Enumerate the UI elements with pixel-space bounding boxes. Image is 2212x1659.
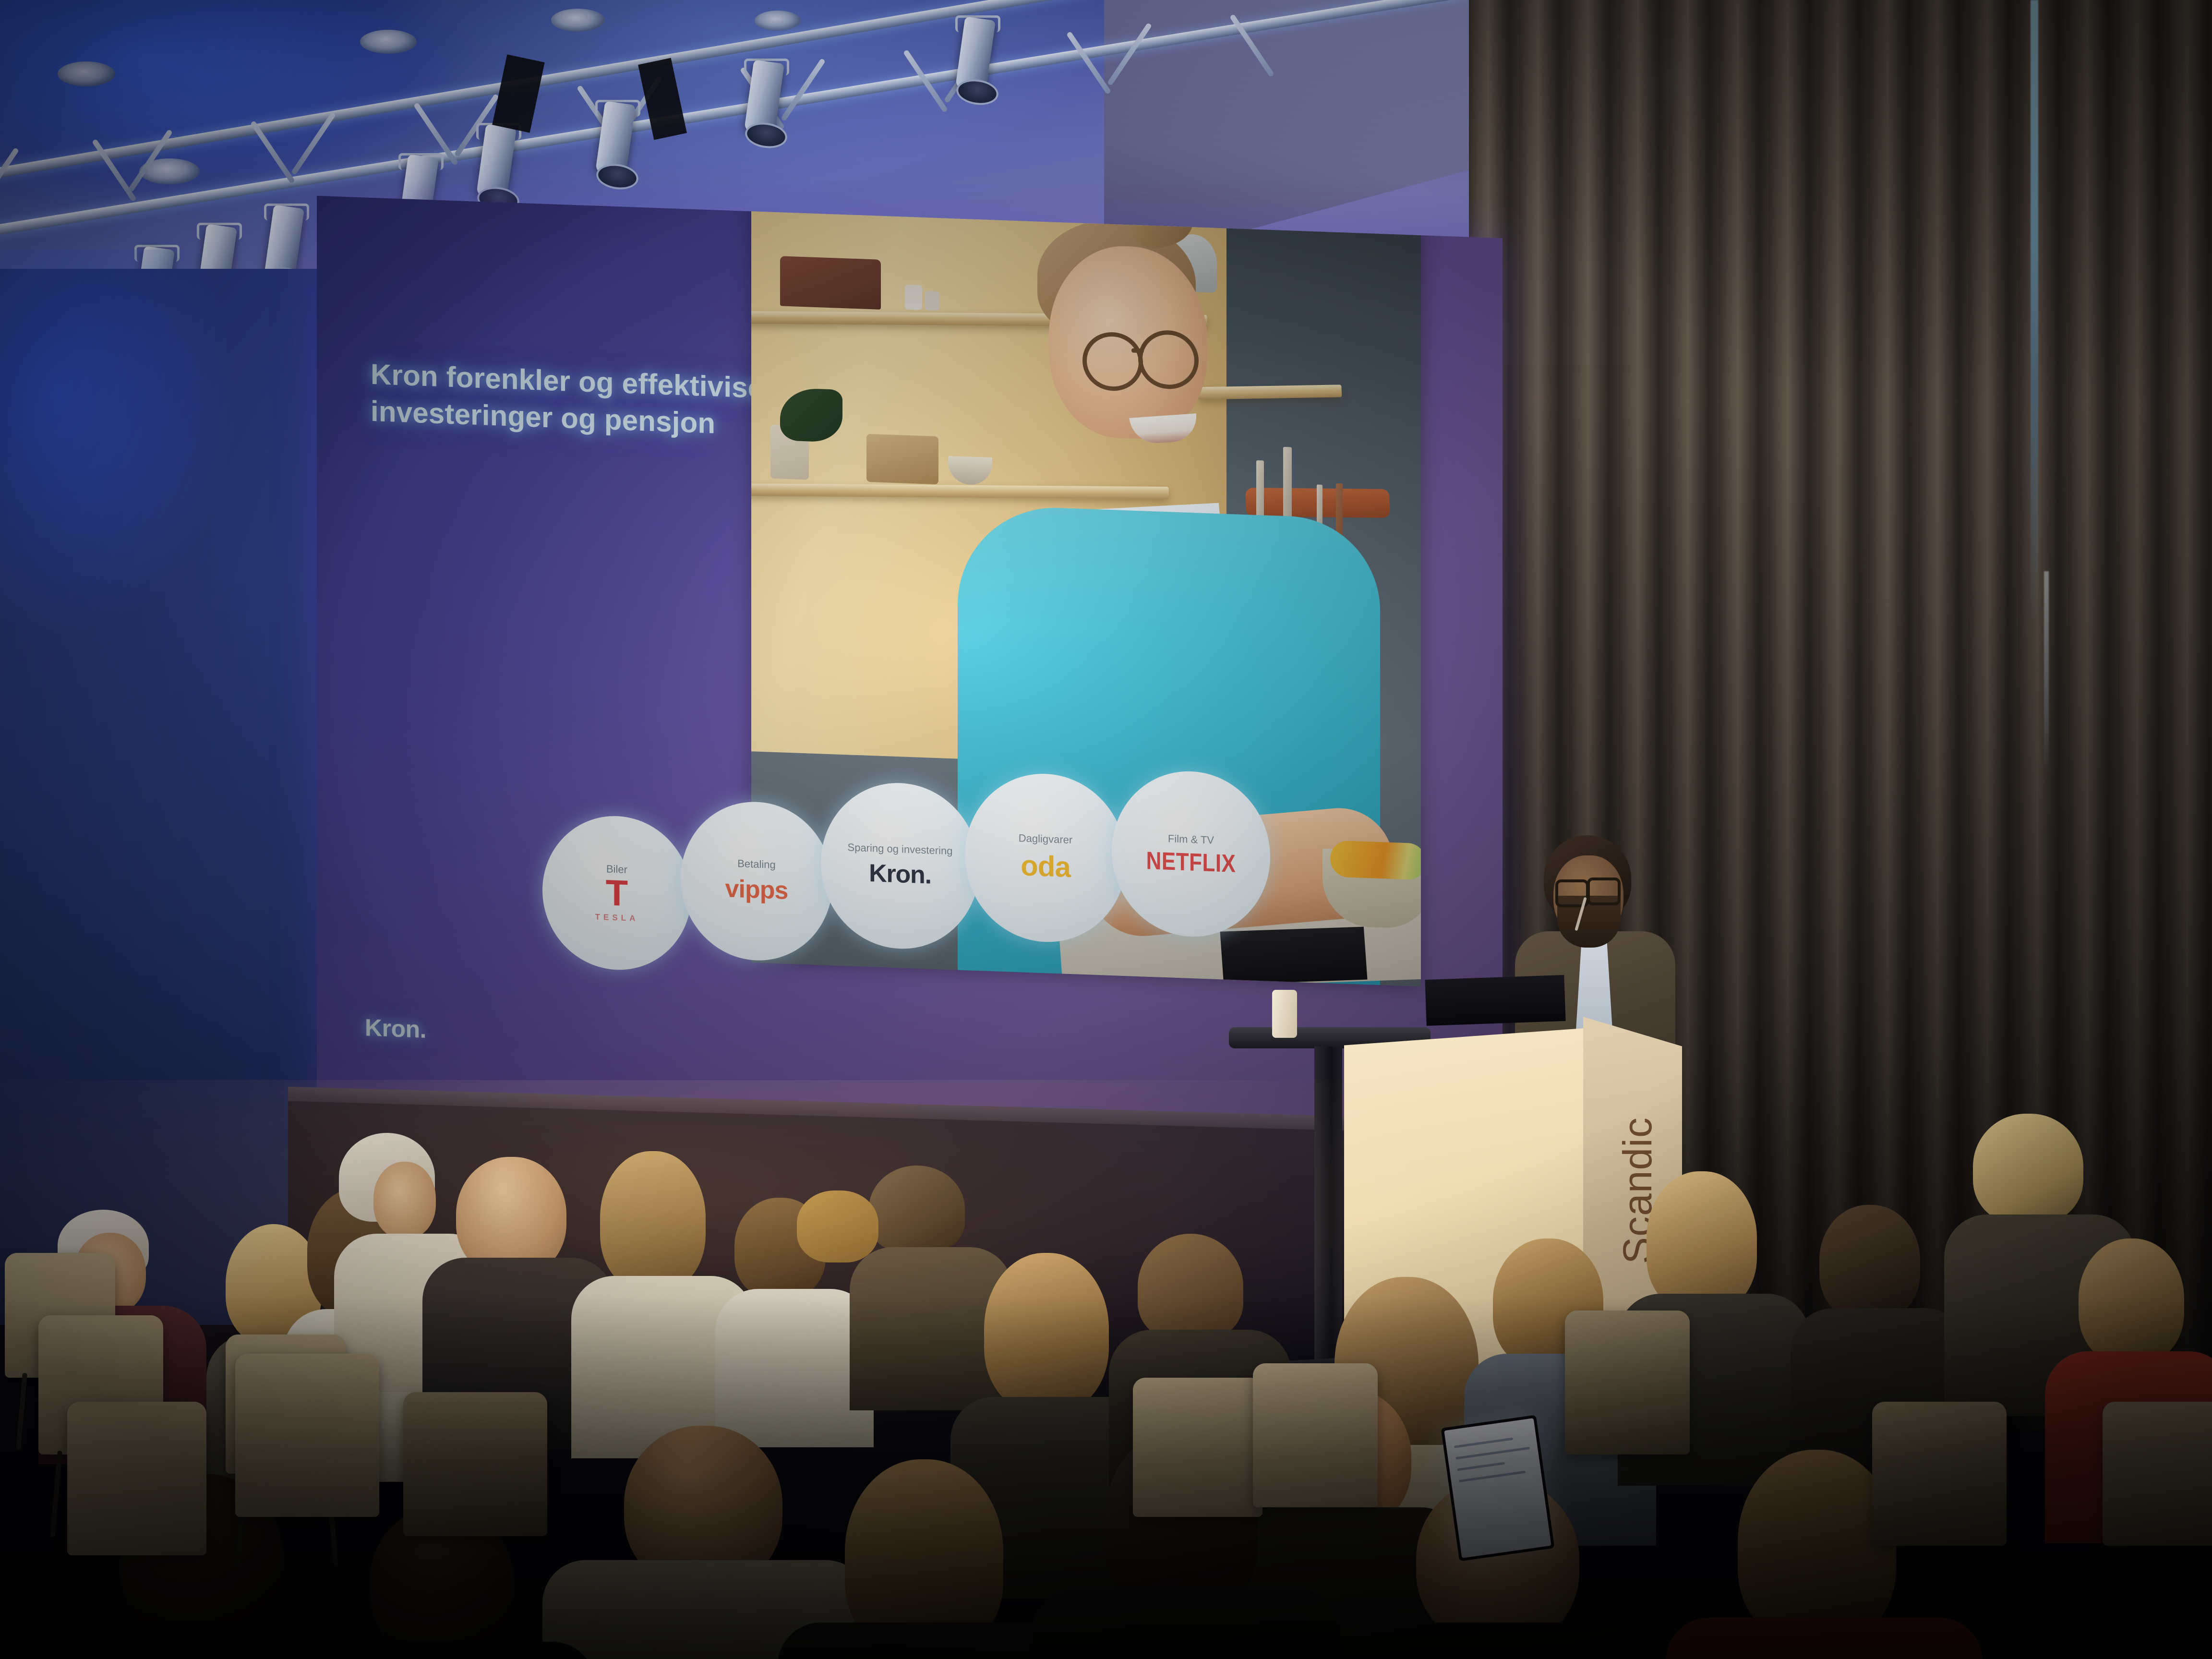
slide-footer-logo: Kron. — [365, 1013, 426, 1044]
curtain-light-seam — [2044, 571, 2049, 773]
badge-dagligvarer-oda: Dagligvarer oda — [965, 771, 1126, 945]
audience-chair[interactable] — [1565, 1310, 1690, 1455]
audience-chair[interactable] — [1253, 1363, 1378, 1507]
badge-film-tv-netflix: Film & TV NETFLIX — [1112, 769, 1270, 939]
speaker-glasses-icon — [1587, 878, 1621, 905]
photo-person-glasses-bridge — [1131, 349, 1144, 353]
badge-brand: Kron. — [869, 859, 931, 890]
tablet-device[interactable] — [1441, 1415, 1554, 1561]
shelf-object-bowl — [780, 256, 881, 310]
badge-category: Dagligvarer — [1019, 832, 1073, 846]
badge-category: Sparing og investering — [848, 841, 953, 857]
shelf-object-figure — [925, 291, 939, 311]
slide-logo-badges: Biler T TESLA Betaling vipps Sparing og … — [542, 761, 1358, 1001]
badge-category: Betaling — [737, 857, 776, 871]
badge-brand: vipps — [725, 874, 788, 905]
badge-brand: TESLA — [595, 913, 639, 924]
audience-chair[interactable] — [235, 1354, 379, 1517]
curtain-light-seam — [2031, 0, 2038, 624]
shelf-object-figure — [905, 285, 922, 310]
chair-leg — [16, 1373, 27, 1450]
badge-sparing-kron: Sparing og investering Kron. — [821, 780, 979, 951]
shelf — [1198, 385, 1342, 399]
badge-brand: oda — [1021, 849, 1070, 884]
badge-betaling-vipps: Betaling vipps — [681, 799, 832, 963]
wall-blue-glow — [0, 250, 336, 970]
conference-presentation-photo: Kron forenkler og effektiviserer investe… — [0, 0, 2212, 1659]
badge-category: Film & TV — [1168, 832, 1214, 846]
projection-screen: Kron forenkler og effektiviserer investe… — [317, 196, 1503, 1165]
audience-chair[interactable] — [67, 1402, 206, 1555]
tesla-t-icon: T — [606, 880, 628, 907]
audience — [0, 1094, 2212, 1659]
badge-biler-tesla: Biler T TESLA — [542, 814, 691, 973]
water-bottle — [1272, 990, 1297, 1038]
audience-chair[interactable] — [1872, 1402, 2007, 1546]
audience-chair[interactable] — [1133, 1378, 1262, 1517]
badge-brand: NETFLIX — [1146, 847, 1236, 878]
audience-chair[interactable] — [403, 1392, 547, 1536]
shelf-object-box — [866, 434, 938, 484]
audience-chair[interactable] — [2103, 1402, 2212, 1546]
